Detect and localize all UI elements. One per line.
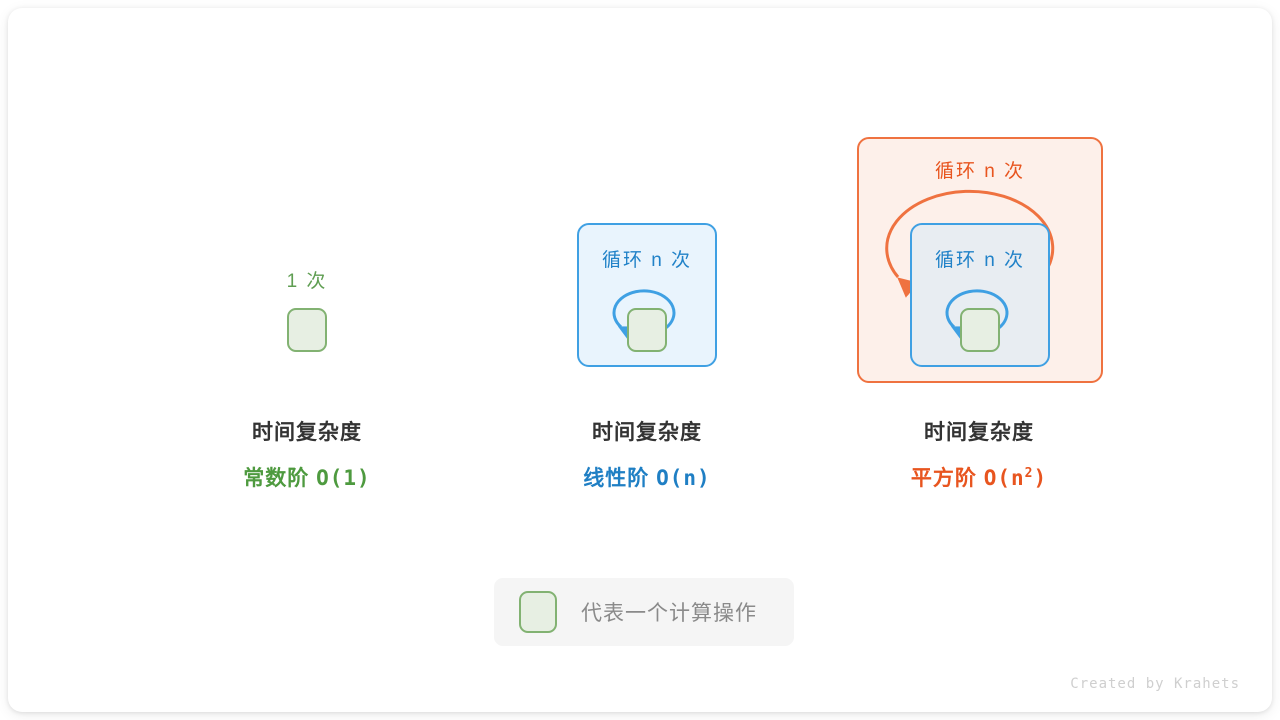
quadratic-caption-notation: O(n2) bbox=[984, 466, 1047, 490]
linear-caption-value: 线性阶 O(n) bbox=[467, 462, 827, 492]
linear-caption-name: 线性阶 bbox=[583, 467, 649, 490]
constant-caption-title: 时间复杂度 bbox=[127, 416, 487, 446]
legend-label: 代表一个计算操作 bbox=[581, 597, 757, 627]
legend-operation-square bbox=[519, 591, 557, 633]
column-linear-time: 循环 n 次 时间复杂度 线性阶 O(n) bbox=[467, 8, 827, 528]
constant-count-label: 1 次 bbox=[127, 266, 487, 293]
quadratic-notation-base: O(n bbox=[984, 466, 1025, 490]
operation-square-linear bbox=[627, 308, 667, 352]
legend-box: 代表一个计算操作 bbox=[494, 578, 794, 646]
quadratic-notation-tail: ) bbox=[1033, 466, 1047, 490]
constant-caption-notation: O(1) bbox=[316, 466, 371, 490]
operation-square-quadratic bbox=[960, 308, 1000, 352]
quadratic-caption-title: 时间复杂度 bbox=[799, 416, 1159, 446]
quadratic-caption-name: 平方阶 bbox=[911, 467, 977, 490]
linear-caption-title: 时间复杂度 bbox=[467, 416, 827, 446]
column-constant-time: 1 次 时间复杂度 常数阶 O(1) bbox=[127, 8, 487, 528]
constant-caption-name: 常数阶 bbox=[243, 467, 309, 490]
constant-caption-value: 常数阶 O(1) bbox=[127, 462, 487, 492]
linear-caption-notation: O(n) bbox=[656, 466, 711, 490]
column-quadratic-time: 循环 n 次 循环 n 次 时间复杂度 平方阶 bbox=[799, 8, 1159, 528]
credit-text: Created by Krahets bbox=[1070, 676, 1240, 692]
quadratic-caption-value: 平方阶 O(n2) bbox=[799, 462, 1159, 492]
operation-square-constant bbox=[287, 308, 327, 352]
diagram-canvas: 1 次 时间复杂度 常数阶 O(1) 循环 n 次 时间复杂度 线性阶 O(n) bbox=[8, 8, 1272, 712]
